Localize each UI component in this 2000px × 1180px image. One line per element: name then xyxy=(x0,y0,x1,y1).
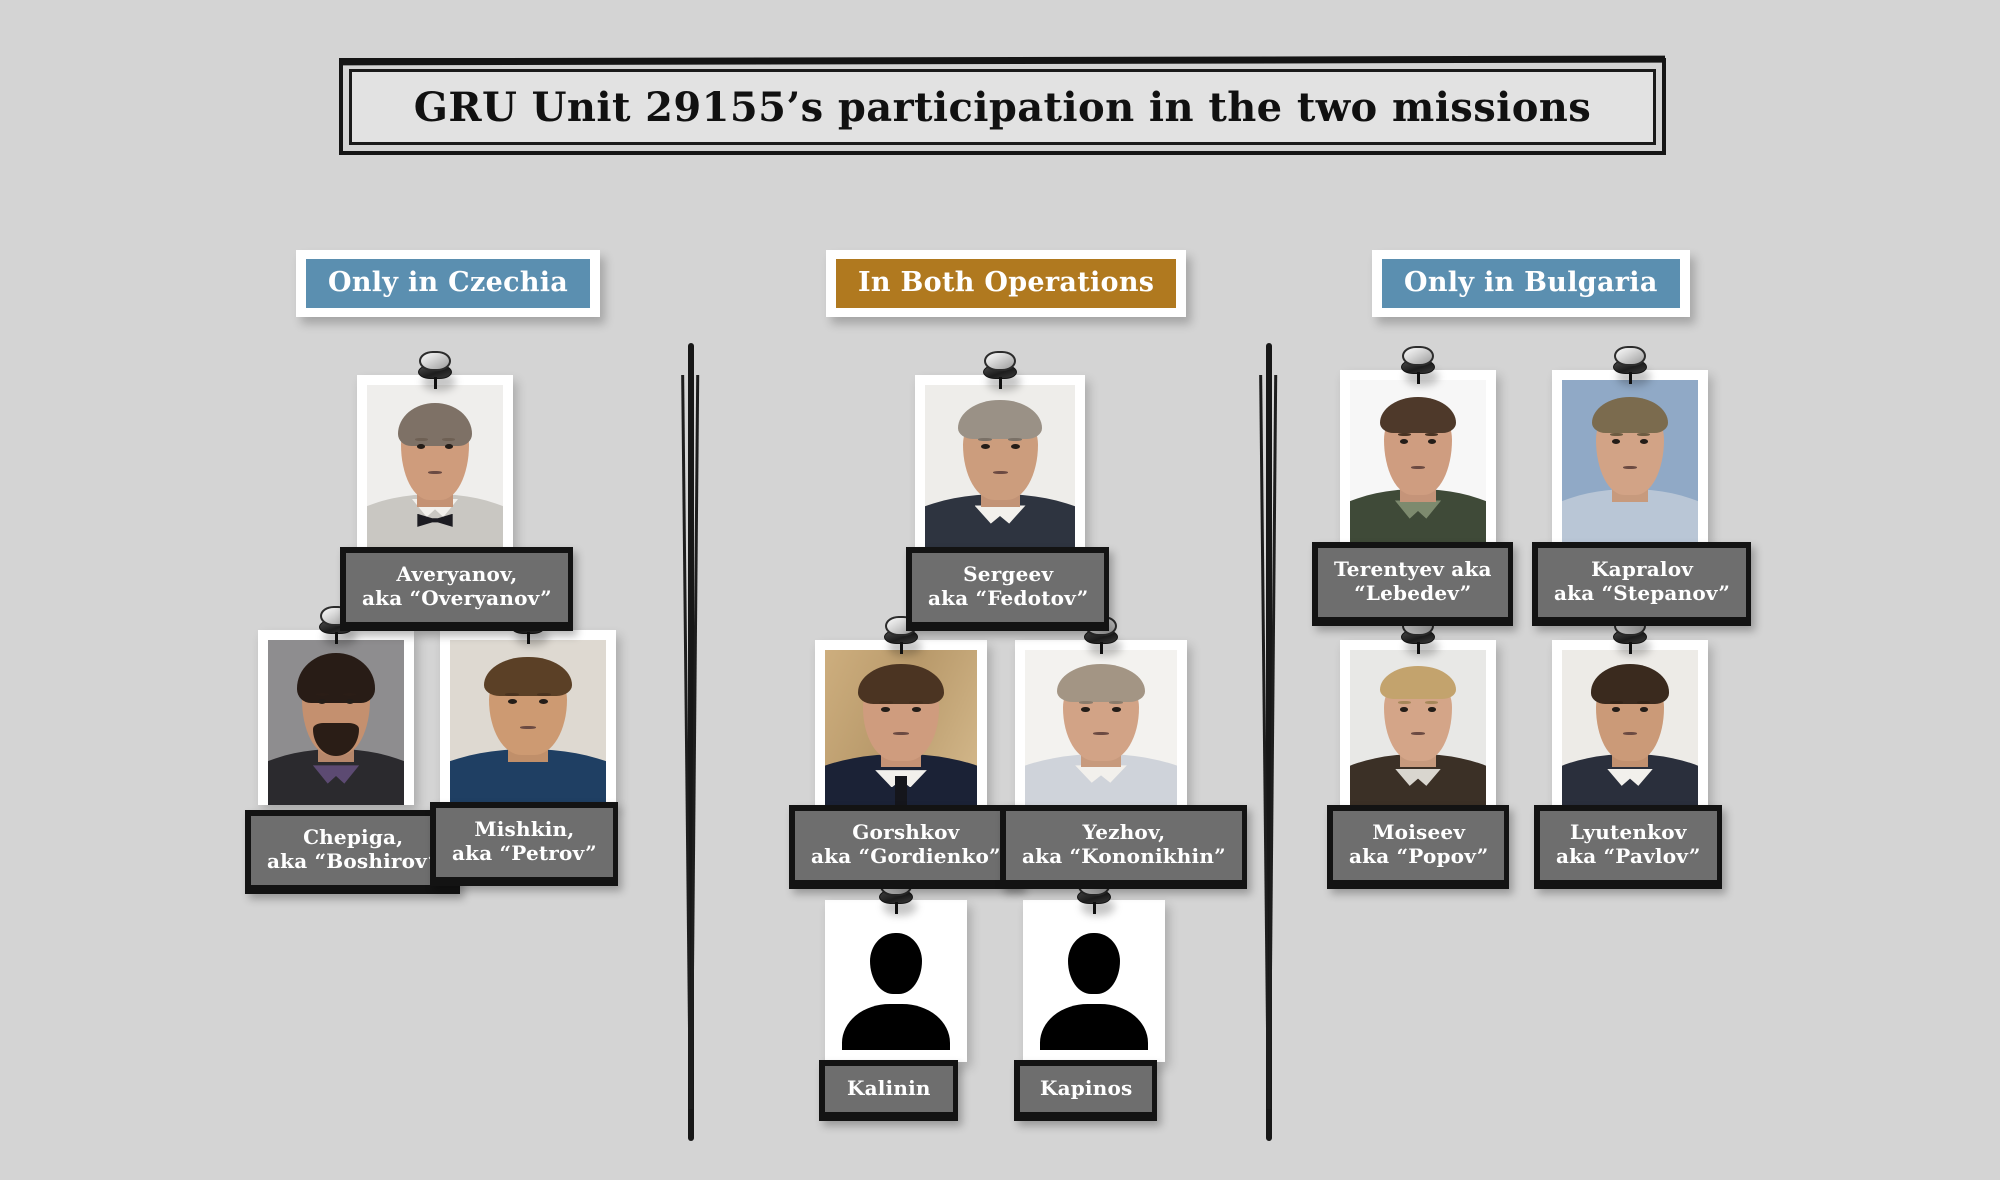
title-banner: GRU Unit 29155’s participation in the tw… xyxy=(339,58,1666,155)
column-header-both-label: In Both Operations xyxy=(858,267,1154,298)
photo-frame xyxy=(1552,370,1708,545)
column-header-both: In Both Operations xyxy=(826,250,1186,317)
column-divider-left xyxy=(688,343,694,1141)
pushpin-icon xyxy=(1401,346,1435,386)
column-divider-right xyxy=(1266,343,1272,1141)
portrait-photo-chepiga xyxy=(268,640,404,805)
name-plate-kalinin: Kalinin xyxy=(819,1060,958,1121)
name-line-1: Sergeev xyxy=(928,562,1088,586)
name-plate-mishkin: Mishkin, aka “Petrov” xyxy=(430,802,618,886)
photo-frame xyxy=(1552,640,1708,808)
photo-frame xyxy=(1340,370,1496,545)
name-line-2: aka “Pavlov” xyxy=(1556,844,1701,868)
name-plate-gorshkov: Gorshkov aka “Gordienko” xyxy=(789,805,1022,889)
name-line-2: aka “Stepanov” xyxy=(1554,581,1730,605)
name-line-2: “Lebedev” xyxy=(1334,581,1492,605)
name-plate-lyutenkov: Lyutenkov aka “Pavlov” xyxy=(1534,805,1722,889)
person-card-lyutenkov[interactable]: Lyutenkov aka “Pavlov” xyxy=(1552,640,1708,808)
person-card-kalinin[interactable]: Kalinin xyxy=(825,900,967,1062)
photo-frame xyxy=(440,630,616,805)
photo-frame xyxy=(258,630,414,805)
name-line-2: aka “Petrov” xyxy=(452,841,597,865)
photo-frame xyxy=(915,375,1085,550)
name-line-2: aka “Gordienko” xyxy=(811,844,1001,868)
portrait-photo-sergeev xyxy=(925,385,1075,550)
name-line-1: Kalinin xyxy=(847,1076,931,1100)
column-header-czechia-label: Only in Czechia xyxy=(328,267,568,298)
name-plate-kapralov: Kapralov aka “Stepanov” xyxy=(1532,542,1751,626)
photo-frame xyxy=(815,640,987,808)
portrait-photo-yezhov xyxy=(1025,650,1177,808)
photo-frame xyxy=(1015,640,1187,808)
photo-frame xyxy=(825,900,967,1062)
person-card-gorshkov[interactable]: Gorshkov aka “Gordienko” xyxy=(815,640,987,808)
pushpin-icon xyxy=(983,351,1017,391)
name-line-1: Moiseev xyxy=(1349,820,1488,844)
name-plate-sergeev: Sergeev aka “Fedotov” xyxy=(906,547,1109,631)
portrait-photo-mishkin xyxy=(450,640,606,805)
column-header-bulgaria: Only in Bulgaria xyxy=(1372,250,1690,317)
column-header-czechia: Only in Czechia xyxy=(296,250,600,317)
name-line-1: Lyutenkov xyxy=(1556,820,1701,844)
person-card-sergeev[interactable]: Sergeev aka “Fedotov” xyxy=(915,375,1085,550)
page-title: GRU Unit 29155’s participation in the tw… xyxy=(414,84,1591,131)
name-line-2: aka “Kononikhin” xyxy=(1022,844,1226,868)
pushpin-icon xyxy=(1613,346,1647,386)
photo-frame xyxy=(1023,900,1165,1062)
photo-frame xyxy=(357,375,513,550)
pushpin-icon xyxy=(418,351,452,391)
person-card-moiseev[interactable]: Moiseev aka “Popov” xyxy=(1340,640,1496,808)
name-plate-terentyev: Terentyev aka “Lebedev” xyxy=(1312,542,1513,626)
name-plate-yezhov: Yezhov, aka “Kononikhin” xyxy=(1000,805,1247,889)
portrait-photo-gorshkov xyxy=(825,650,977,808)
name-plate-averyanov: Averyanov, aka “Overyanov” xyxy=(340,547,573,631)
name-plate-chepiga: Chepiga, aka “Boshirov” xyxy=(245,810,460,894)
name-line-1: Yezhov, xyxy=(1022,820,1226,844)
name-plate-kapinos: Kapinos xyxy=(1014,1060,1157,1121)
silhouette-photo-kapinos xyxy=(1031,908,1157,1062)
name-line-1: Kapralov xyxy=(1554,557,1730,581)
name-line-1: Chepiga, xyxy=(267,825,439,849)
person-card-mishkin[interactable]: Mishkin, aka “Petrov” xyxy=(440,630,616,805)
person-card-chepiga[interactable]: Chepiga, aka “Boshirov” xyxy=(258,630,414,805)
person-card-kapinos[interactable]: Kapinos xyxy=(1023,900,1165,1062)
title-inner-border: GRU Unit 29155’s participation in the tw… xyxy=(349,69,1656,145)
person-card-kapralov[interactable]: Kapralov aka “Stepanov” xyxy=(1552,370,1708,545)
name-line-1: Mishkin, xyxy=(452,817,597,841)
name-line-2: aka “Popov” xyxy=(1349,844,1488,868)
name-line-1: Gorshkov xyxy=(811,820,1001,844)
portrait-photo-averyanov xyxy=(367,385,503,550)
name-line-1: Averyanov, xyxy=(362,562,552,586)
name-plate-moiseev: Moiseev aka “Popov” xyxy=(1327,805,1509,889)
name-line-2: aka “Fedotov” xyxy=(928,586,1088,610)
name-line-1: Terentyev aka xyxy=(1334,557,1492,581)
portrait-photo-kapralov xyxy=(1562,380,1698,545)
name-line-2: aka “Boshirov” xyxy=(267,849,439,873)
name-line-1: Kapinos xyxy=(1040,1076,1132,1100)
photo-frame xyxy=(1340,640,1496,808)
person-card-terentyev[interactable]: Terentyev aka “Lebedev” xyxy=(1340,370,1496,545)
person-card-averyanov[interactable]: Averyanov, aka “Overyanov” xyxy=(357,375,513,550)
name-line-2: aka “Overyanov” xyxy=(362,586,552,610)
column-header-czechia-bar: Only in Czechia xyxy=(306,259,590,308)
silhouette-photo-kalinin xyxy=(833,908,959,1062)
column-header-both-bar: In Both Operations xyxy=(836,259,1176,308)
portrait-photo-moiseev xyxy=(1350,650,1486,808)
portrait-photo-terentyev xyxy=(1350,380,1486,545)
portrait-photo-lyutenkov xyxy=(1562,650,1698,808)
column-header-bulgaria-label: Only in Bulgaria xyxy=(1404,267,1658,298)
person-card-yezhov[interactable]: Yezhov, aka “Kononikhin” xyxy=(1015,640,1187,808)
column-header-bulgaria-bar: Only in Bulgaria xyxy=(1382,259,1680,308)
